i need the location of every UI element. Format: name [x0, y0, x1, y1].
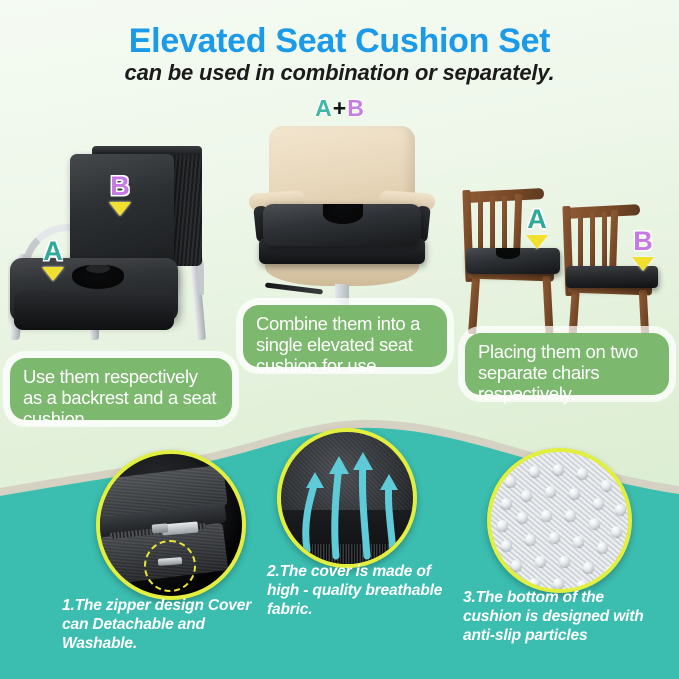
a-plus-b-badge: A+B — [0, 97, 679, 120]
feature-breathable-photo — [277, 428, 417, 568]
arrow-down-icon — [632, 257, 654, 271]
feature-3-number: 3. — [463, 589, 476, 606]
marker-a-wood-chair: A — [520, 206, 554, 249]
photo-backrest-and-seat-chair: B A — [8, 140, 223, 340]
page-title: Elevated Seat Cushion Set — [0, 22, 679, 61]
feature-1-text: The zipper design Cover can Detachable a… — [62, 597, 251, 652]
feature-caption-2: 2.The cover is made of high - quality br… — [267, 562, 447, 619]
feature-3-text: The bottom of the cushion is designed wi… — [463, 589, 644, 644]
callout-two-separate-chairs: Placing them on two separate chairs resp… — [465, 333, 669, 395]
feature-1-number: 1. — [62, 597, 75, 614]
feature-zipper-photo — [96, 450, 246, 600]
feature-2-number: 2. — [267, 563, 280, 580]
photo-combined-cushion-office-chair — [243, 126, 441, 326]
zipper-highlight-ring — [144, 540, 196, 592]
marker-a-seat: A — [36, 238, 70, 281]
airflow-arrows-icon — [281, 432, 417, 568]
feature-2-text: The cover is made of high - quality brea… — [267, 563, 442, 618]
marker-b-backrest: B — [103, 173, 137, 216]
badge-letter-b: B — [347, 95, 364, 121]
badge-letter-a: A — [315, 95, 332, 121]
photo-two-wooden-chairs: A B — [452, 172, 679, 340]
marker-b-wood-chair: B — [626, 228, 660, 271]
arrow-down-icon — [526, 235, 548, 249]
callout-combine-single: Combine them into a single elevated seat… — [243, 305, 447, 367]
arrow-down-icon — [109, 202, 131, 216]
feature-caption-3: 3.The bottom of the cushion is designed … — [463, 588, 663, 645]
page-subtitle: can be used in combination or separately… — [0, 60, 679, 86]
arrow-down-icon — [42, 267, 64, 281]
product-infographic: Elevated Seat Cushion Set can be used in… — [0, 0, 679, 679]
feature-anti-slip-photo — [487, 448, 632, 593]
feature-caption-1: 1.The zipper design Cover can Detachable… — [62, 596, 257, 653]
badge-plus-sign: + — [333, 95, 346, 121]
